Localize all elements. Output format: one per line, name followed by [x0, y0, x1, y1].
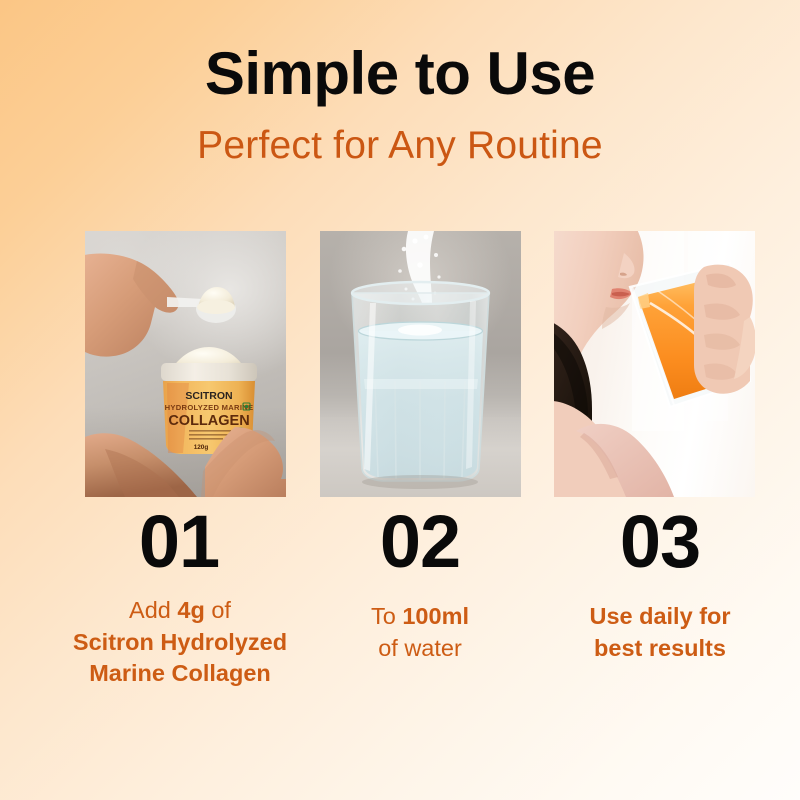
step-2-caption-line-2: of water [300, 633, 540, 665]
step-1-number: 01 [58, 505, 300, 579]
page-subtitle: Perfect for Any Routine [0, 126, 800, 165]
panel-step-2-image [320, 231, 521, 497]
step-2-caption: To 100ml of water [300, 601, 540, 664]
jar-and-scoop-illustration: SCITRON HYDROLYZED MARINE COLLAGEN 120g [85, 231, 286, 497]
step-2-line1-prefix: To [371, 603, 402, 629]
step-3: 03 Use daily for best results [540, 505, 780, 690]
step-3-caption-line-2: best results [540, 633, 780, 665]
jar-brand-text: SCITRON [185, 390, 232, 402]
step-2-line1-bold: 100ml [402, 603, 469, 629]
scoop-powder-top [197, 300, 235, 314]
veg-badge-dot [245, 405, 249, 409]
step-2: 02 To 100ml of water [300, 505, 540, 690]
step-1: 01 Add 4g of Scitron Hydrolyzed Marine C… [60, 505, 300, 690]
steps-row: 01 Add 4g of Scitron Hydrolyzed Marine C… [60, 505, 780, 690]
step-1-caption-line-2: Scitron Hydrolyzed [60, 627, 300, 659]
step-1-caption-line-1: Add 4g of [60, 595, 300, 627]
step-1-caption: Add 4g of Scitron Hydrolyzed Marine Coll… [60, 595, 300, 690]
jar-lid [161, 363, 257, 381]
panel-step-3-image [554, 231, 755, 497]
header: Simple to Use Perfect for Any Routine [0, 0, 800, 165]
woman-drinking-illustration [554, 231, 755, 497]
infographic-page: { "header": { "title": "Simple to Use", … [0, 0, 800, 800]
panel-step-1-image: SCITRON HYDROLYZED MARINE COLLAGEN 120g [85, 231, 286, 497]
page-title: Simple to Use [0, 44, 800, 104]
glass-base-shadow [362, 475, 478, 489]
glass-of-water-illustration [320, 231, 521, 497]
step-3-number: 03 [540, 505, 780, 579]
jar-line1-text: HYDROLYZED MARINE [165, 403, 254, 412]
step-1-line1-prefix: Add [129, 597, 177, 623]
step-3-caption: Use daily for best results [540, 601, 780, 664]
panels-row: SCITRON HYDROLYZED MARINE COLLAGEN 120g [85, 231, 755, 497]
step-1-line1-suffix: of [205, 597, 231, 623]
water-foam [398, 325, 442, 336]
step-2-number: 02 [300, 505, 540, 579]
facet-ridge [364, 379, 478, 389]
step-3-caption-line-1: Use daily for [540, 601, 780, 633]
step-1-caption-line-3: Marine Collagen [60, 658, 300, 690]
step-2-caption-line-1: To 100ml [300, 601, 540, 633]
step-1-line1-bold: 4g [177, 597, 204, 623]
